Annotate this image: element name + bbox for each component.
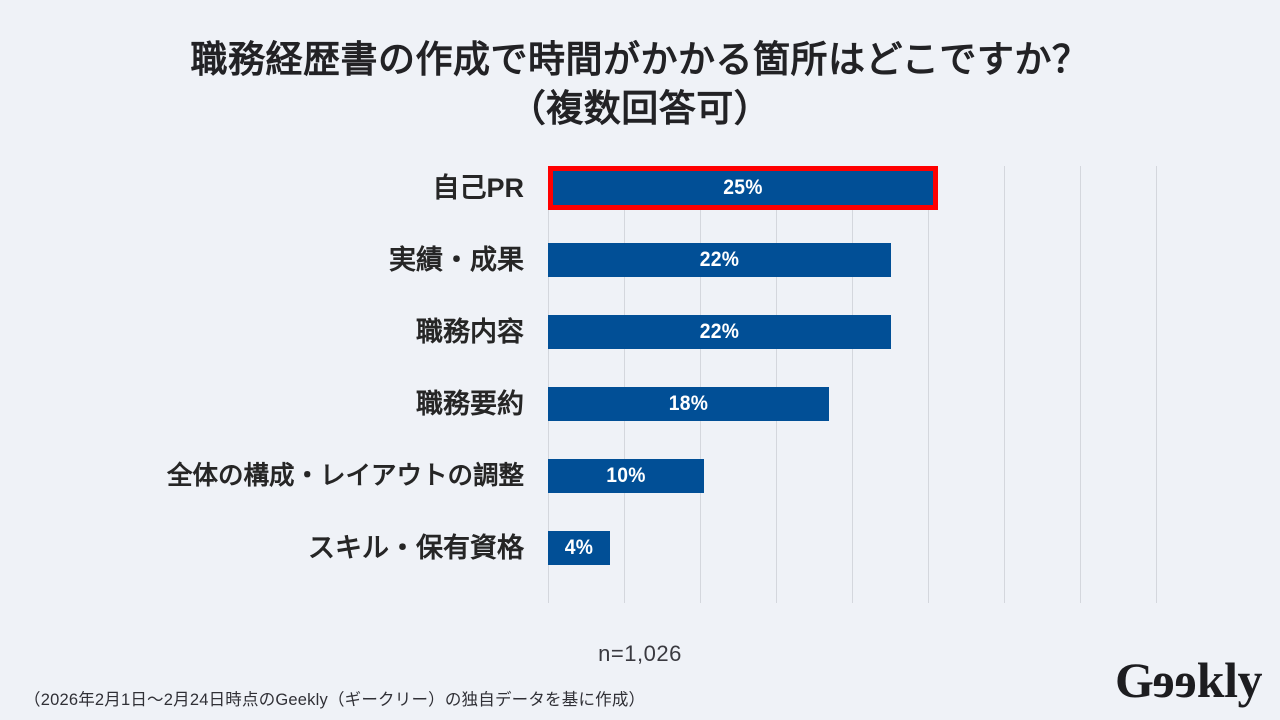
slide-root: 職務経歴書の作成で時間がかかる箇所はどこですか？ （複数回答可） 自己PR実績・… [0,0,1280,720]
bar-row: 18% [548,387,829,421]
gridline [1156,166,1157,603]
geekly-logo: Geekly [1115,655,1262,705]
bar-row: 4% [548,531,610,565]
title-line-1: 職務経歴書の作成で時間がかかる箇所はどこですか？ [0,36,1280,83]
plot-area: 25%22%22%18%10%4% [548,166,1156,603]
bar-value-label: 22% [562,243,878,277]
logo-g: G [1115,652,1153,708]
title-line-2: （複数回答可） [0,85,1280,132]
logo-e2: e [1175,655,1197,705]
source-note: （2026年2月1日〜2月24日時点のGeekly（ギークリー）の独自データを基… [24,686,645,710]
sample-size-note: n=1,026 [0,641,1280,667]
bar-value-label: 18% [559,387,818,421]
bar-row: 22% [548,243,891,277]
logo-kly: kly [1197,652,1262,708]
bar-value-label: 25% [564,171,923,205]
bar-row: 25% [548,171,938,205]
bar-chart: 25%22%22%18%10%4% [0,166,1280,606]
bar-row: 10% [548,459,704,493]
bar-value-label: 4% [550,531,607,565]
bar-value-label: 10% [554,459,698,493]
bar-row: 22% [548,315,891,349]
page-title: 職務経歴書の作成で時間がかかる箇所はどこですか？ （複数回答可） [0,36,1280,133]
logo-e1: e [1153,655,1175,705]
sample-size-value: n=1,026 [598,641,682,667]
bar-rows: 25%22%22%18%10%4% [548,166,1156,603]
bar-value-label: 22% [562,315,878,349]
